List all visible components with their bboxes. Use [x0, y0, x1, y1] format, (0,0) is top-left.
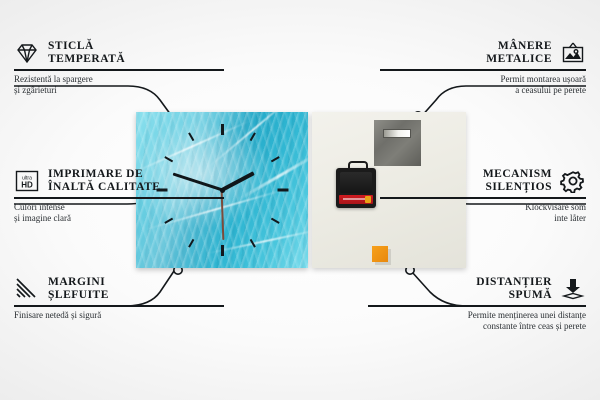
feature-sub-line2: inte låter: [380, 213, 586, 224]
svg-text:HD: HD: [21, 181, 33, 190]
feature-hd-print: ultra HD IMPRIMARE DE ÎNALTĂ CALITATE Cu…: [14, 168, 224, 224]
hour-tick: [221, 245, 224, 256]
feature-sub-line2: și zgârieturi: [14, 85, 224, 96]
feature-title-line2: SILENȚIOS: [483, 181, 552, 194]
feature-sub-line1: Culori intense: [14, 202, 224, 213]
diagonal-lines-icon: [14, 277, 40, 301]
feature-polished-edges: MARGINI ȘLEFUITE Finisare netedă și sigu…: [14, 276, 224, 321]
hour-tick: [188, 132, 194, 141]
diamond-icon: [14, 41, 40, 65]
feature-title-line2: METALICE: [486, 53, 552, 66]
feature-sub-line2: constante între ceas și perete: [368, 321, 586, 332]
feature-divider: [14, 197, 224, 199]
hour-tick: [250, 132, 256, 141]
feature-sub-line2: a ceasului pe perete: [380, 85, 586, 96]
hour-tick: [221, 124, 224, 135]
hour-tick: [271, 218, 280, 224]
feature-sub-line1: Rezistentă la spargere: [14, 74, 224, 85]
battery-label: [343, 198, 365, 200]
foam-spacer-pad: [372, 246, 388, 262]
feature-title-line1: STICLĂ: [48, 40, 125, 53]
feature-title-line1: MÂNERE: [486, 40, 552, 53]
feature-sub-line1: Permit montarea ușoară: [380, 74, 586, 85]
feature-title-line2: SPUMĂ: [476, 289, 552, 302]
hour-tick: [271, 156, 280, 162]
hanger-slot: [383, 129, 411, 138]
feature-divider: [14, 69, 224, 71]
down-arrow-stack-icon: [560, 277, 586, 301]
picture-frame-icon: [560, 41, 586, 65]
ultra-hd-icon: ultra HD: [14, 169, 40, 193]
feature-silent-mechanism: MECANISM SILENȚIOS Klockvisare som inte …: [380, 168, 586, 224]
feature-divider: [14, 305, 224, 307]
feature-tempered-glass: STICLĂ TEMPERATĂ Rezistentă la spargere …: [14, 40, 224, 96]
hour-hand: [221, 171, 255, 191]
feature-divider: [380, 197, 586, 199]
hour-tick: [277, 189, 288, 192]
feature-divider: [368, 305, 586, 307]
feature-title-line1: IMPRIMARE DE: [48, 168, 160, 181]
feature-title-line1: DISTANȚIER: [476, 276, 552, 289]
gear-icon: [560, 169, 586, 193]
hour-tick: [188, 239, 194, 248]
feature-title-line2: ÎNALTĂ CALITATE: [48, 181, 160, 194]
mechanism-body: [340, 172, 372, 193]
clock-mechanism-box: [336, 168, 376, 208]
feature-sub-line1: Finisare netedă și sigură: [14, 310, 224, 321]
feature-sub-line1: Klockvisare som: [380, 202, 586, 213]
feature-sub-line2: și imagine clară: [14, 213, 224, 224]
feature-divider: [380, 69, 586, 71]
metal-hanger-plate: [374, 120, 421, 166]
hour-tick: [164, 156, 173, 162]
feature-sub-line1: Permite menținerea unei distanțe: [368, 310, 586, 321]
feature-foam-spacer: DISTANȚIER SPUMĂ Permite menținerea unei…: [368, 276, 586, 332]
infographic-canvas: STICLĂ TEMPERATĂ Rezistentă la spargere …: [0, 0, 600, 400]
feature-title-line2: ȘLEFUITE: [48, 289, 109, 302]
feature-title-line2: TEMPERATĂ: [48, 53, 125, 66]
battery: [339, 195, 373, 204]
feature-title-line1: MECANISM: [483, 168, 552, 181]
feature-title-line1: MARGINI: [48, 276, 109, 289]
hour-tick: [250, 239, 256, 248]
feature-metal-hooks: MÂNERE METALICE Permit montarea ușoară a…: [380, 40, 586, 96]
mechanism-handle: [348, 161, 368, 172]
